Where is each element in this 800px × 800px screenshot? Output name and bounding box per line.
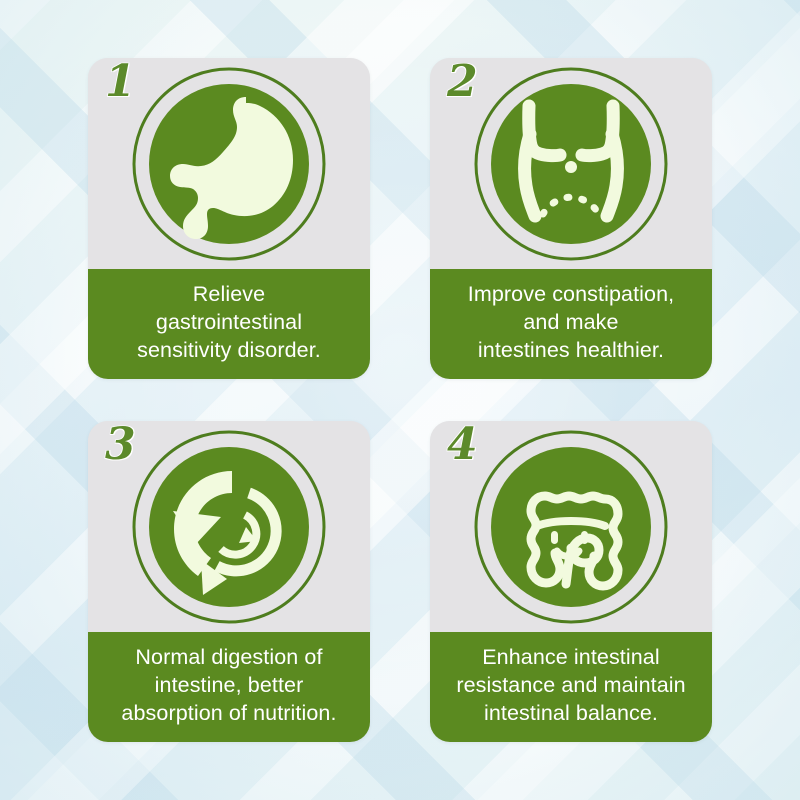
intestines-constipation-icon xyxy=(430,64,712,264)
card-2-icon-panel: 2 xyxy=(430,58,712,269)
benefit-card-4[interactable]: 4 xyxy=(430,421,712,742)
card-4-caption-text: Enhance intestinal resistance and mainta… xyxy=(438,644,704,728)
stomach-icon xyxy=(88,64,370,264)
digestion-cycle-arrow-icon xyxy=(88,427,370,627)
card-2-caption-band: Improve constipation, and make intestine… xyxy=(430,269,712,379)
card-3-icon-panel: 3 xyxy=(88,421,370,632)
happy-colon-icon xyxy=(430,427,712,627)
benefit-card-2[interactable]: 2 xyxy=(430,58,712,379)
card-3-caption-text: Normal digestion of intestine, better ab… xyxy=(96,644,362,728)
card-1-caption-band: Relieve gastrointestinal sensitivity dis… xyxy=(88,269,370,379)
infographic-root: 1 Relieve gastrointestinal sensitivity d… xyxy=(0,0,800,800)
card-1-icon-panel: 1 xyxy=(88,58,370,269)
benefit-card-grid: 1 Relieve gastrointestinal sensitivity d… xyxy=(0,0,800,800)
card-3-caption-band: Normal digestion of intestine, better ab… xyxy=(88,632,370,742)
benefit-card-3[interactable]: 3 xyxy=(88,421,370,742)
card-4-icon-panel: 4 xyxy=(430,421,712,632)
card-4-caption-band: Enhance intestinal resistance and mainta… xyxy=(430,632,712,742)
benefit-card-1[interactable]: 1 Relieve gastrointestinal sensitivity d… xyxy=(88,58,370,379)
card-1-caption-text: Relieve gastrointestinal sensitivity dis… xyxy=(96,281,362,365)
card-2-caption-text: Improve constipation, and make intestine… xyxy=(438,281,704,365)
